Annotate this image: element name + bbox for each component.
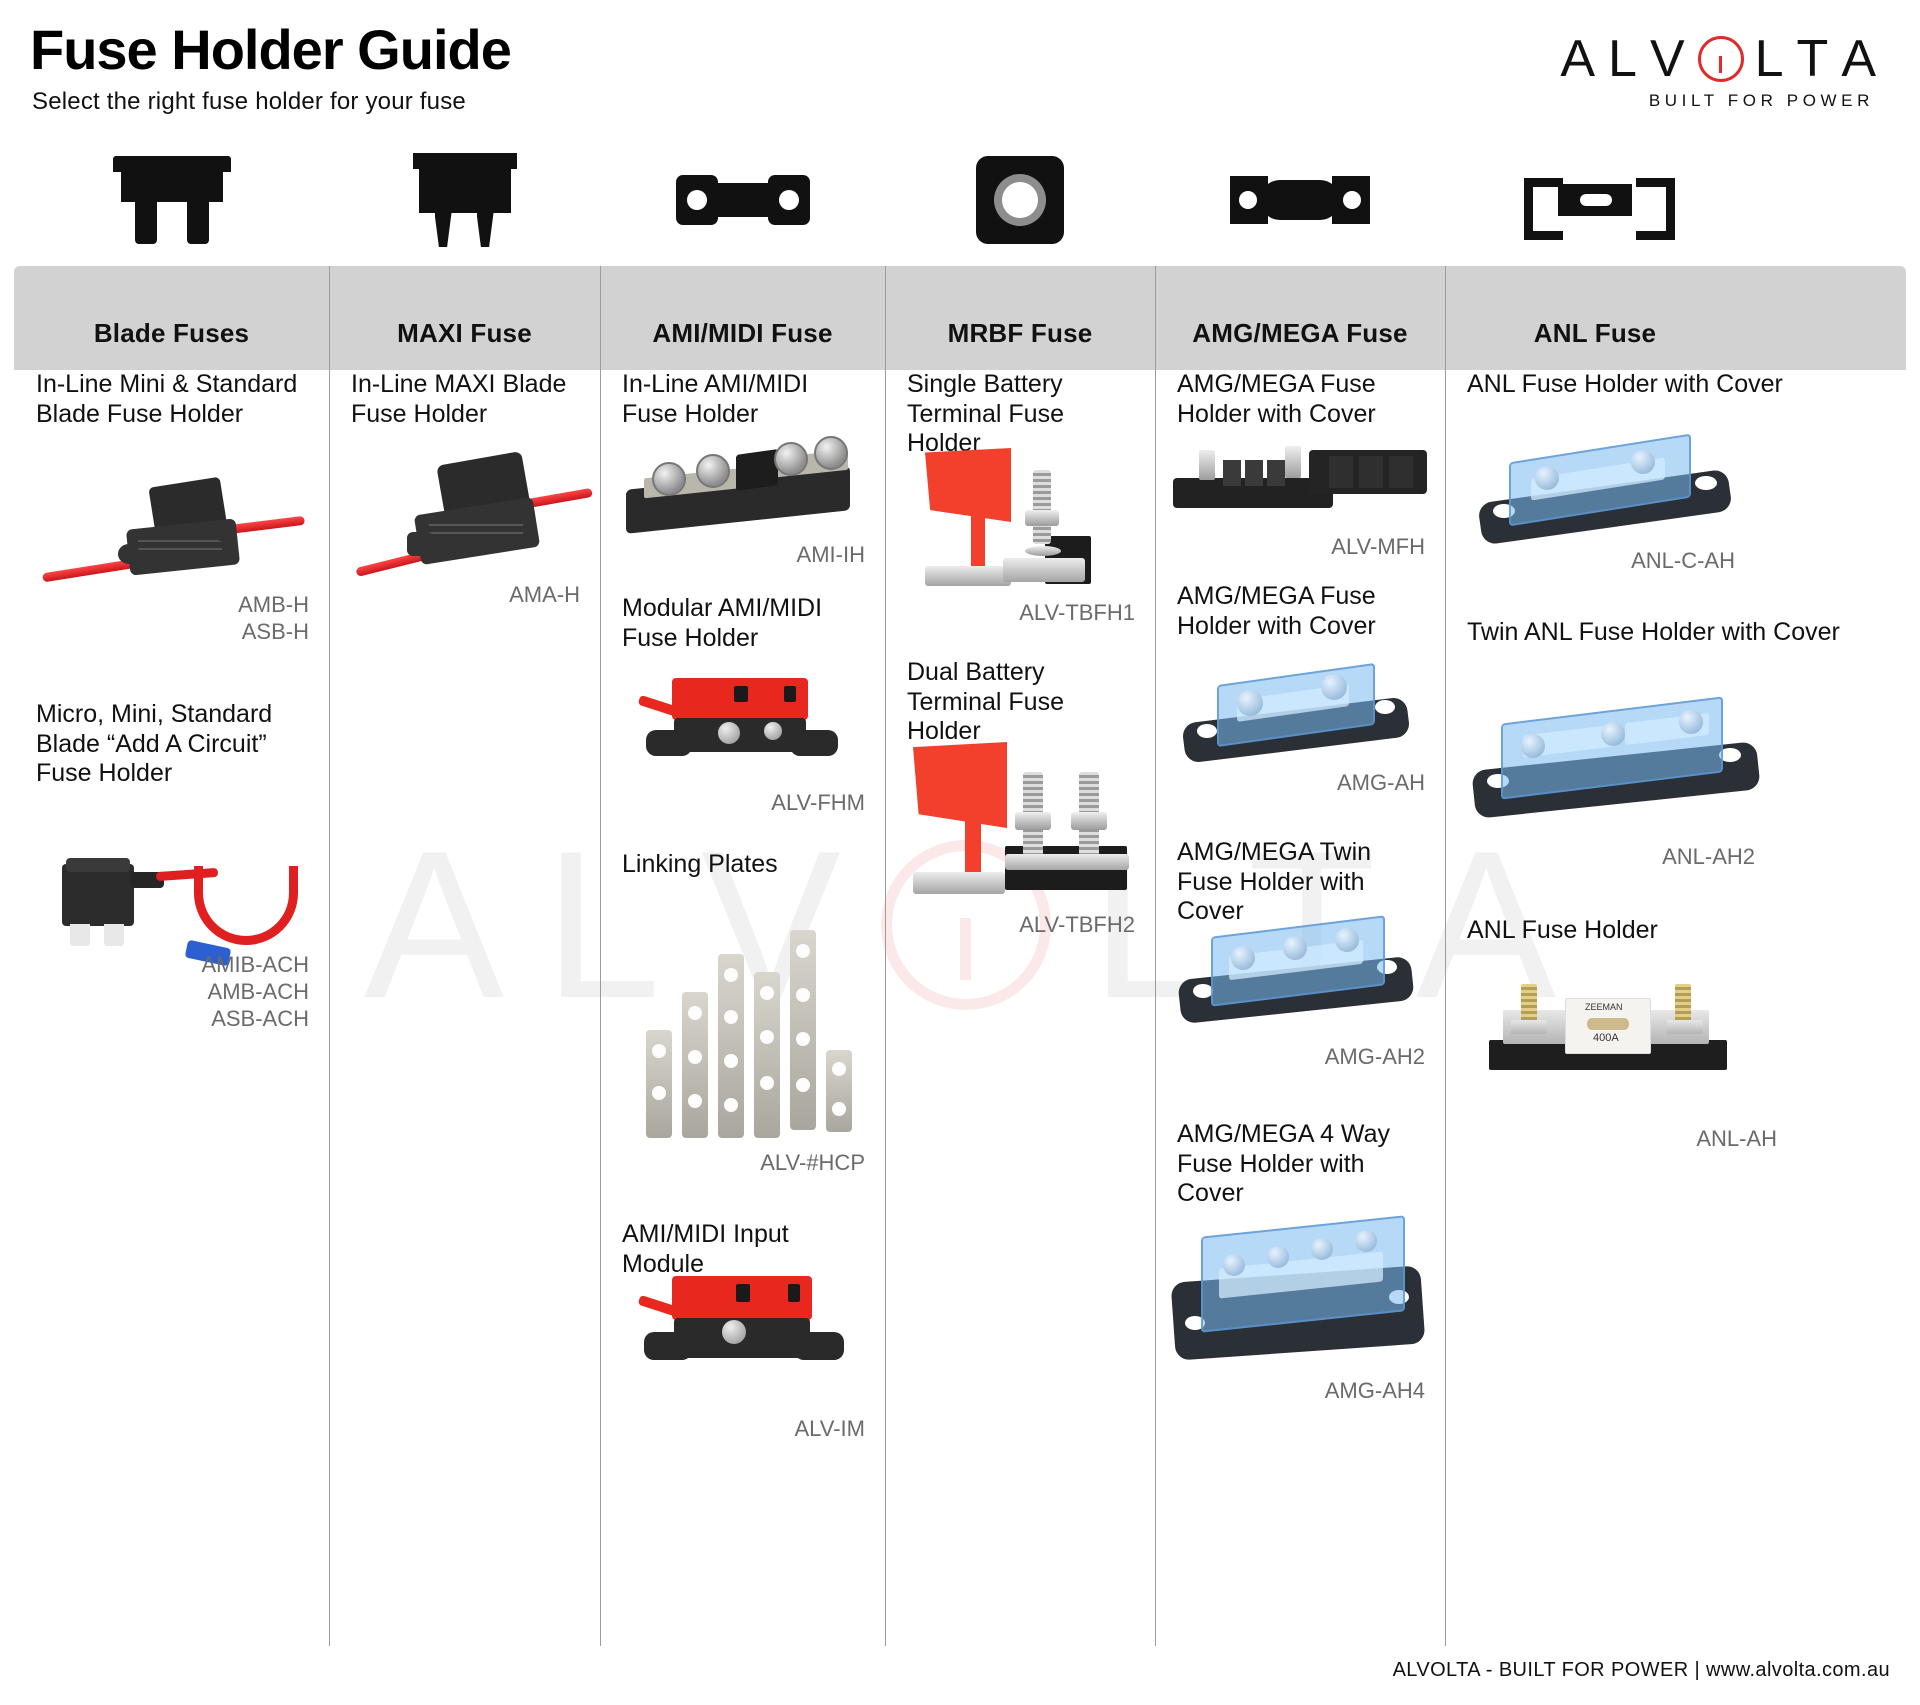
brand-letter-o-power-icon — [1698, 36, 1744, 82]
product-code: ANL-C-AH — [1631, 548, 1735, 575]
page-header: Fuse Holder Guide Select the right fuse … — [0, 0, 1920, 150]
column-header-mrbf-fuse: MRBF Fuse — [885, 266, 1155, 370]
linking-plates-photo — [646, 910, 858, 1140]
column-amg-mega-fuse: AMG/MEGA Fuse AMG/MEGA Fuse Holder with … — [1155, 266, 1445, 1646]
blade-fuse-icon — [113, 156, 231, 244]
product-code: ALV-TBFH1 — [1019, 600, 1135, 627]
product-code: AMG-AH — [1337, 770, 1425, 797]
product-card[interactable]: Dual Battery Terminal Fuse Holder ALV-TB… — [885, 658, 1155, 978]
dual-battery-terminal-fuse-holder-photo — [913, 742, 1143, 906]
product-code: AMA-H — [509, 582, 580, 609]
product-name: AMI/MIDI Input Module — [600, 1220, 885, 1279]
product-card[interactable]: In-Line AMI/MIDI Fuse Holder AMI-IH — [600, 370, 885, 600]
inline-maxi-blade-fuse-holder-photo — [355, 458, 587, 588]
page-title: Fuse Holder Guide — [30, 22, 511, 78]
product-code: AMG-AH4 — [1325, 1378, 1425, 1405]
fuse-holder-table: Blade Fuses In-Line Mini & Standard Blad… — [14, 266, 1906, 1646]
column-header-amg-mega-fuse: AMG/MEGA Fuse — [1155, 266, 1445, 370]
ami-midi-input-module-photo — [638, 1276, 850, 1396]
product-code: ALV-#HCP — [760, 1150, 865, 1177]
column-header-ami-midi-fuse: AMI/MIDI Fuse — [600, 266, 885, 370]
amg-mega-twin-fuse-holder-photo — [1179, 914, 1419, 1034]
column-maxi-fuse: MAXI Fuse In-Line MAXI Blade Fuse Holder… — [329, 266, 600, 1646]
amg-mega-fuse-icon — [1230, 176, 1370, 224]
icon-cell-anl — [1445, 130, 1745, 270]
maxi-fuse-icon — [413, 153, 517, 247]
icon-cell-amg-mega — [1155, 130, 1445, 270]
icon-cell-maxi — [329, 130, 600, 270]
product-card[interactable]: ANL Fuse Holder with Cover ANL-C-AH — [1445, 370, 1885, 620]
product-name: AMG/MEGA 4 Way Fuse Holder with Cover — [1155, 1120, 1445, 1209]
anl-fuse-holder-photo: ZEEMAN 400A — [1489, 982, 1729, 1092]
product-code: AMI-IH — [797, 542, 865, 569]
page-footer: ALVOLTA - BUILT FOR POWER | www.alvolta.… — [0, 1655, 1920, 1695]
anl-fuse-holder-with-cover-photo — [1479, 438, 1739, 548]
page-subtitle: Select the right fuse holder for your fu… — [32, 88, 466, 116]
product-name: AMG/MEGA Fuse Holder with Cover — [1155, 582, 1445, 641]
inline-ami-midi-fuse-holder-photo — [618, 442, 868, 542]
product-card[interactable]: In-Line Mini & Standard Blade Fuse Holde… — [14, 370, 329, 670]
brand-letter-a2: A — [1841, 34, 1878, 84]
column-header-maxi-fuse: MAXI Fuse — [329, 266, 600, 370]
column-header-anl-fuse: ANL Fuse — [1445, 266, 1745, 370]
product-card[interactable]: AMI/MIDI Input Module ALV-IM — [600, 1220, 885, 1490]
brand-letter-v: V — [1650, 34, 1687, 84]
product-name: Modular AMI/MIDI Fuse Holder — [600, 594, 885, 653]
product-code: AMB-H ASB-H — [238, 592, 309, 646]
anl-fuse-brand-label: ZEEMAN — [1585, 1002, 1623, 1012]
product-name: Linking Plates — [600, 850, 885, 880]
product-card[interactable]: AMG/MEGA Twin Fuse Holder with Cover AMG… — [1155, 838, 1445, 1118]
footer-text: ALVOLTA - BUILT FOR POWER | www.alvolta.… — [1393, 1659, 1890, 1682]
icon-cell-ami-midi — [600, 130, 885, 270]
product-name: Single Battery Terminal Fuse Holder — [885, 370, 1155, 459]
product-name: Micro, Mini, Standard Blade “Add A Circu… — [14, 700, 329, 789]
product-code: ALV-TBFH2 — [1019, 912, 1135, 939]
product-card[interactable]: Twin ANL Fuse Holder with Cover ANL-AH2 — [1445, 618, 1885, 918]
product-code: ALV-IM — [794, 1416, 865, 1443]
brand-wordmark: A L V L T A — [1478, 34, 1878, 84]
brand-letter-a1: A — [1560, 34, 1597, 84]
product-name: In-Line Mini & Standard Blade Fuse Holde… — [14, 370, 329, 429]
product-name: AMG/MEGA Fuse Holder with Cover — [1155, 370, 1445, 429]
column-ami-midi-fuse: AMI/MIDI Fuse In-Line AMI/MIDI Fuse Hold… — [600, 266, 885, 1646]
single-battery-terminal-fuse-holder-photo — [925, 448, 1125, 598]
product-code: ANL-AH2 — [1662, 844, 1755, 871]
product-code: AMIB-ACH AMB-ACH ASB-ACH — [201, 952, 309, 1032]
product-code: AMG-AH2 — [1325, 1044, 1425, 1071]
twin-anl-fuse-holder-with-cover-photo — [1473, 700, 1763, 830]
product-card[interactable]: Single Battery Terminal Fuse Holder ALV-… — [885, 370, 1155, 670]
product-card[interactable]: AMG/MEGA Fuse Holder with Cover ALV-MFH — [1155, 370, 1445, 600]
product-card[interactable]: AMG/MEGA 4 Way Fuse Holder with Cover AM… — [1155, 1120, 1445, 1450]
product-card[interactable]: ANL Fuse Holder ZEEMAN 400A ANL-AH — [1445, 916, 1885, 1196]
column-header-blade-fuses: Blade Fuses — [14, 266, 329, 370]
brand-letter-l1: L — [1608, 34, 1639, 84]
brand-letter-l2: L — [1755, 34, 1786, 84]
modular-ami-midi-fuse-holder-photo — [638, 678, 848, 788]
brand-tagline: BUILT FOR POWER — [1478, 91, 1878, 111]
product-card[interactable]: AMG/MEGA Fuse Holder with Cover AMG-AH — [1155, 582, 1445, 832]
anl-fuse-icon — [1524, 178, 1666, 222]
column-anl-fuse: ANL Fuse ANL Fuse Holder with Cover ANL-… — [1445, 266, 1906, 1646]
product-code: ALV-FHM — [771, 790, 865, 817]
fuse-type-icon-strip — [0, 130, 1920, 270]
product-card[interactable]: In-Line MAXI Blade Fuse Holder AMA-H — [329, 370, 600, 670]
icon-cell-mrbf — [885, 130, 1155, 270]
anl-fuse-rating-label: 400A — [1593, 1032, 1619, 1044]
product-name: ANL Fuse Holder — [1445, 916, 1885, 946]
product-code: ALV-MFH — [1331, 534, 1425, 561]
product-card[interactable]: Modular AMI/MIDI Fuse Holder ALV-FHM — [600, 594, 885, 844]
product-name: Twin ANL Fuse Holder with Cover — [1445, 618, 1885, 648]
product-name: ANL Fuse Holder with Cover — [1445, 370, 1885, 400]
product-name: In-Line AMI/MIDI Fuse Holder — [600, 370, 885, 429]
alvolta-logo: A L V L T A BUILT FOR POWER — [1478, 34, 1878, 116]
brand-letter-t: T — [1797, 34, 1831, 84]
product-card[interactable]: Micro, Mini, Standard Blade “Add A Circu… — [14, 700, 329, 1060]
product-code: ANL-AH — [1696, 1126, 1777, 1153]
product-name: In-Line MAXI Blade Fuse Holder — [329, 370, 600, 429]
inline-mini-standard-blade-fuse-holder-photo — [42, 480, 304, 600]
amg-mega-4-way-fuse-holder-photo — [1173, 1218, 1425, 1368]
product-card[interactable]: Linking Plates ALV-#HCP — [600, 850, 885, 1210]
icon-cell-blade — [14, 130, 329, 270]
mrbf-fuse-icon — [976, 156, 1064, 244]
product-name: Dual Battery Terminal Fuse Holder — [885, 658, 1155, 747]
ami-midi-fuse-icon — [676, 175, 810, 225]
amg-mega-fuse-holder-blue-cover-photo — [1183, 660, 1413, 770]
column-mrbf-fuse: MRBF Fuse Single Battery Terminal Fuse H… — [885, 266, 1155, 1646]
amg-mega-fuse-holder-with-cover-photo — [1173, 444, 1429, 520]
column-blade-fuses: Blade Fuses In-Line Mini & Standard Blad… — [14, 266, 329, 1646]
